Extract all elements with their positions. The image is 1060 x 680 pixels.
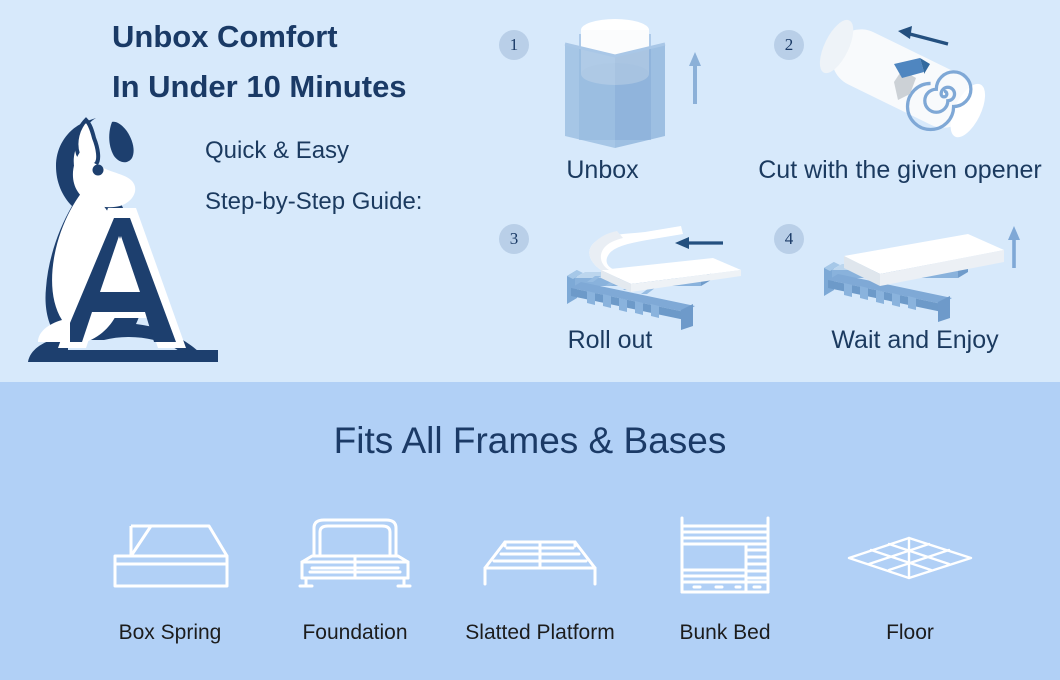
foundation-bed-icon — [290, 511, 420, 603]
headline-line-1: Unbox Comfort — [112, 12, 512, 62]
step-3-label: Roll out — [495, 326, 725, 355]
bunk-bed-icon — [660, 511, 790, 603]
step-1-illustration-box-with-mattress-roll — [543, 8, 723, 163]
arrow-left-icon — [898, 26, 948, 44]
floor-grid-icon — [845, 511, 975, 603]
subcopy-line-2: Step-by-Step Guide: — [205, 176, 525, 227]
step-1: 1 Unbox — [495, 8, 755, 198]
base-label-foundation: Foundation — [302, 621, 407, 645]
step-4: 4 — [760, 208, 1060, 383]
step-1-label: Unbox — [495, 156, 710, 185]
base-item-bunk-bed[interactable]: Bunk Bed — [635, 511, 815, 645]
arrow-up-icon — [689, 52, 701, 104]
step-1-number-badge: 1 — [499, 30, 529, 60]
box-spring-icon — [105, 511, 235, 603]
base-label-slatted-platform: Slatted Platform — [465, 621, 614, 645]
kangaroo-letter-a-logo — [8, 100, 248, 368]
base-item-slatted-platform[interactable]: Slatted Platform — [450, 511, 630, 645]
step-4-label: Wait and Enjoy — [765, 326, 1060, 355]
step-4-number-badge: 4 — [774, 224, 804, 254]
subcopy-block: Quick & Easy Step-by-Step Guide: — [205, 125, 525, 227]
step-2: 2 — [760, 8, 1060, 198]
arrow-up-icon — [1008, 226, 1020, 268]
infographic-page: Unbox Comfort In Under 10 Minutes Quick … — [0, 0, 1060, 680]
step-3: 3 — [495, 208, 755, 383]
base-item-foundation[interactable]: Foundation — [265, 511, 445, 645]
step-3-illustration-mattress-unrolling — [505, 212, 755, 335]
bases-list: Box Spring — [80, 495, 1000, 645]
base-item-floor[interactable]: Floor — [820, 511, 1000, 645]
base-label-box-spring: Box Spring — [119, 621, 222, 645]
base-item-box-spring[interactable]: Box Spring — [80, 511, 260, 645]
step-2-label: Cut with the given opener — [735, 156, 1060, 185]
subcopy-line-1: Quick & Easy — [205, 125, 525, 176]
step-4-illustration-expanded-mattress — [808, 212, 1038, 335]
base-label-floor: Floor — [886, 621, 934, 645]
step-2-illustration-rolled-mattress-with-opener — [798, 8, 1028, 163]
base-label-bunk-bed: Bunk Bed — [679, 621, 770, 645]
slatted-platform-icon — [475, 511, 605, 603]
arrow-left-icon — [675, 237, 723, 249]
bases-section-title: Fits All Frames & Bases — [0, 420, 1060, 462]
headline-block: Unbox Comfort In Under 10 Minutes — [112, 12, 512, 112]
